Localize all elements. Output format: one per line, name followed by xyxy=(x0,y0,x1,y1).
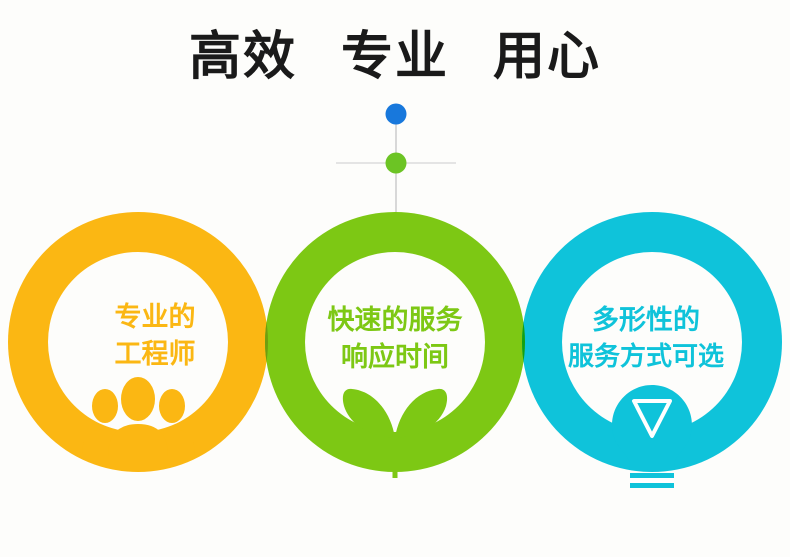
pin-blue-dot-icon xyxy=(386,104,407,125)
circle-label-engineers-line-1: 专业的 xyxy=(55,300,255,337)
page-title: 高效专业用心 xyxy=(0,26,790,88)
circle-label-engineers-line-2: 工程师 xyxy=(55,337,255,374)
circle-label-service-modes-line-2: 服务方式可选 xyxy=(528,340,764,375)
pin-green-dot-icon xyxy=(386,153,407,174)
page-title-segment-2: 专业 xyxy=(341,26,449,88)
poster-canvas: 高效专业用心 xyxy=(0,0,790,557)
circle-label-service-modes: 多形性的 服务方式可选 xyxy=(528,303,764,375)
circle-label-engineers: 专业的 工程师 xyxy=(55,300,255,373)
circle-label-response-time-line-1: 快速的服务 xyxy=(292,303,498,340)
circle-label-response-time: 快速的服务 响应时间 xyxy=(292,303,498,376)
circle-label-response-time-line-2: 响应时间 xyxy=(292,340,498,377)
page-title-segment-3: 用心 xyxy=(493,26,601,88)
circle-label-service-modes-line-1: 多形性的 xyxy=(528,303,764,340)
page-title-segment-1: 高效 xyxy=(189,26,297,88)
